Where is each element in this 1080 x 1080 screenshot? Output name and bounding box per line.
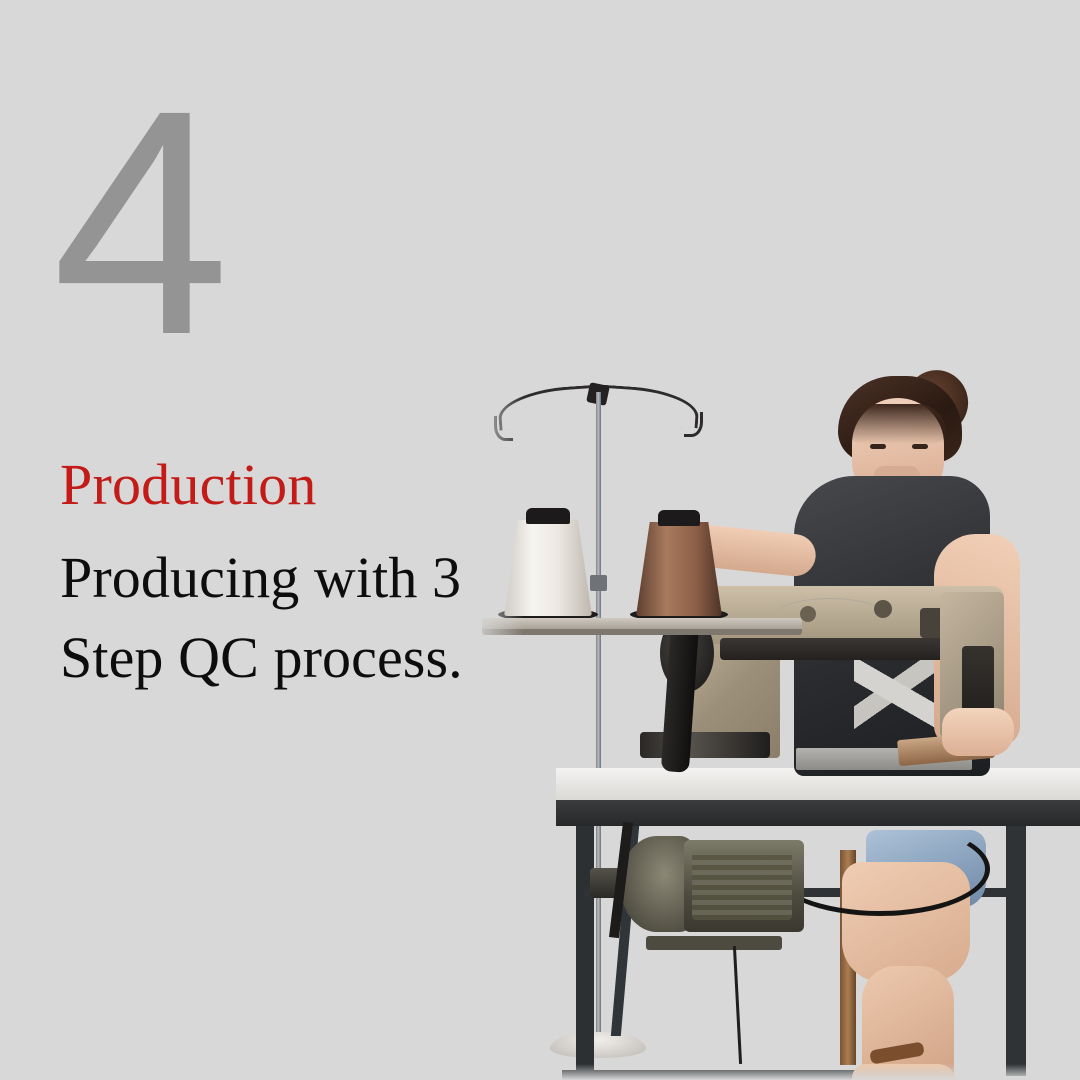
thread-spool-brown [636, 522, 722, 616]
thread-stand-collar [590, 575, 607, 591]
machine-bolt-b [874, 600, 892, 618]
sewing-table-edge [556, 800, 1080, 826]
treadle-chain [733, 946, 742, 1064]
eye-right [912, 444, 928, 449]
thread-hook-right-icon [684, 412, 703, 437]
section-body-line-2: Step QC process. [60, 625, 463, 690]
thread-stand-pole [596, 392, 601, 1052]
slide-text-block: Production Producing with 3 Step QC proc… [60, 455, 530, 698]
table-leg-right [1006, 826, 1026, 1076]
presentation-slide: 4 [0, 0, 1080, 1080]
section-heading: Production [60, 455, 530, 514]
spool-shelf-edge [482, 629, 802, 635]
production-photo [470, 370, 1080, 1080]
section-body-line-1: Producing with 3 [60, 545, 461, 610]
thread-stand-base [550, 1032, 646, 1058]
eye-left [870, 444, 886, 449]
thread-hook-left-icon [494, 416, 513, 441]
machine-accessories [640, 732, 770, 758]
motor-housing-bell [620, 836, 694, 932]
motor-cooling-fins [692, 850, 792, 920]
spool-white-cap [526, 508, 570, 524]
machine-bolt-a [800, 606, 816, 622]
section-body: Producing with 3 Step QC process. [60, 538, 530, 698]
motor-mount-bracket [646, 936, 782, 950]
foot [852, 1064, 956, 1080]
step-number: 4 [52, 62, 226, 382]
hair-bangs [850, 404, 946, 444]
spool-brown-cap [658, 510, 700, 526]
table-foot-rail [562, 1070, 892, 1080]
table-leg-left [576, 826, 594, 1076]
hand-right [942, 708, 1014, 756]
